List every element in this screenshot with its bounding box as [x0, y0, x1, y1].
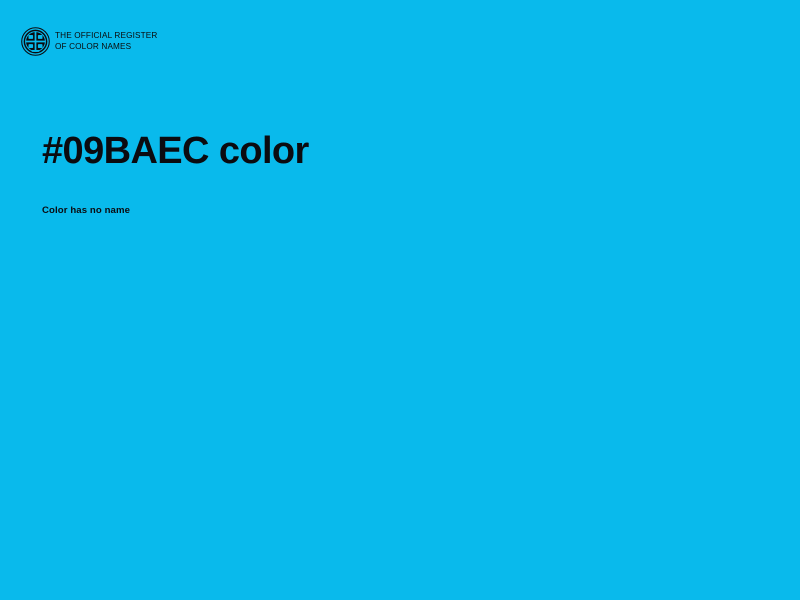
- brand-wordmark-line-1: THE OFFICIAL REGISTER: [55, 31, 157, 41]
- official-register-seal-icon: [21, 27, 50, 56]
- color-page: THE OFFICIAL REGISTER OF COLOR NAMES #09…: [0, 0, 800, 600]
- brand-wordmark-line-2: OF COLOR NAMES: [55, 42, 157, 52]
- main-content: #09BAEC color Color has no name: [42, 128, 742, 217]
- brand-lockup[interactable]: THE OFFICIAL REGISTER OF COLOR NAMES: [21, 27, 157, 56]
- color-name-status: Color has no name: [42, 174, 742, 217]
- brand-wordmark: THE OFFICIAL REGISTER OF COLOR NAMES: [55, 31, 157, 51]
- page-title: #09BAEC color: [42, 128, 742, 174]
